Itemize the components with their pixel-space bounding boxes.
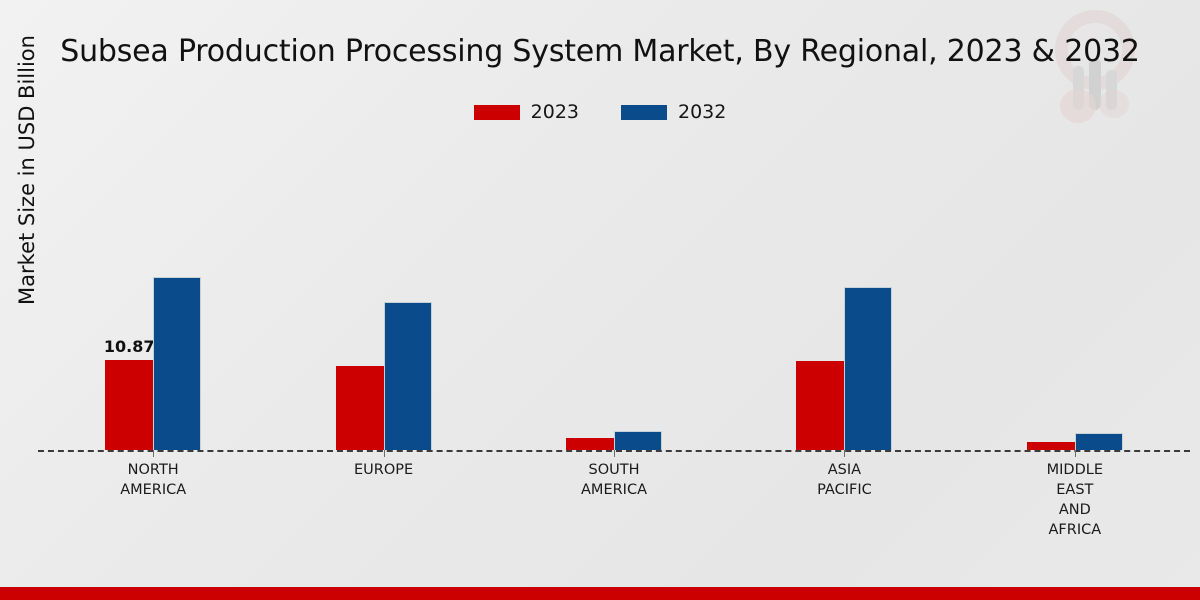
x-label-europe: EUROPE bbox=[354, 460, 413, 480]
footer-accent-band bbox=[0, 587, 1200, 600]
legend-label-2032: 2032 bbox=[678, 103, 726, 122]
legend-item-2023[interactable]: 2023 bbox=[474, 103, 579, 122]
legend-swatch-2032-icon bbox=[621, 105, 667, 120]
x-label-middle-east-and-africa: MIDDLE EAST AND AFRICA bbox=[1047, 460, 1103, 540]
bar-2023-asia-pacific[interactable] bbox=[796, 361, 844, 450]
bars-asia-pacific bbox=[796, 287, 892, 450]
bar-group-europe: EUROPE bbox=[268, 150, 498, 450]
x-tick-asia-pacific bbox=[844, 450, 845, 457]
bar-2023-south-america[interactable] bbox=[566, 438, 614, 450]
bar-value-label: 10.87 bbox=[104, 337, 155, 356]
bars-middle-east-and-africa bbox=[1027, 433, 1123, 450]
legend-swatch-2023-icon bbox=[474, 105, 520, 120]
bars-south-america bbox=[566, 431, 662, 450]
bar-group-middle-east-and-africa: MIDDLE EAST AND AFRICA bbox=[960, 150, 1190, 450]
bar-2023-north-america[interactable]: 10.87 bbox=[105, 360, 153, 450]
bar-groups: 10.87 NORTH AMERICA EUROPE bbox=[38, 150, 1190, 450]
x-tick-middle-east-and-africa bbox=[1075, 450, 1076, 457]
chart-legend: 2023 2032 bbox=[0, 103, 1200, 122]
bar-2032-middle-east-and-africa[interactable] bbox=[1075, 433, 1123, 450]
bars-europe bbox=[336, 302, 432, 450]
chart-root: Subsea Production Processing System Mark… bbox=[0, 0, 1200, 600]
bars-north-america: 10.87 bbox=[105, 277, 201, 450]
x-tick-europe bbox=[384, 450, 385, 457]
bar-2032-south-america[interactable] bbox=[614, 431, 662, 450]
bar-2032-north-america[interactable] bbox=[153, 277, 201, 450]
x-label-south-america: SOUTH AMERICA bbox=[581, 460, 647, 500]
bar-2032-europe[interactable] bbox=[384, 302, 432, 450]
bar-2032-asia-pacific[interactable] bbox=[844, 287, 892, 450]
bar-group-south-america: SOUTH AMERICA bbox=[499, 150, 729, 450]
bar-group-asia-pacific: ASIA PACIFIC bbox=[729, 150, 959, 450]
chart-title: Subsea Production Processing System Mark… bbox=[0, 34, 1200, 69]
x-tick-south-america bbox=[614, 450, 615, 457]
x-label-asia-pacific: ASIA PACIFIC bbox=[817, 460, 872, 500]
legend-label-2023: 2023 bbox=[531, 103, 579, 122]
x-tick-north-america bbox=[153, 450, 154, 457]
x-label-north-america: NORTH AMERICA bbox=[120, 460, 186, 500]
bar-group-north-america: 10.87 NORTH AMERICA bbox=[38, 150, 268, 450]
plot-area: 10.87 NORTH AMERICA EUROPE bbox=[38, 150, 1190, 450]
bar-2023-europe[interactable] bbox=[336, 366, 384, 450]
y-axis-title: Market Size in USD Billion bbox=[15, 0, 39, 370]
bar-2023-middle-east-and-africa[interactable] bbox=[1027, 442, 1075, 450]
legend-item-2032[interactable]: 2032 bbox=[621, 103, 726, 122]
